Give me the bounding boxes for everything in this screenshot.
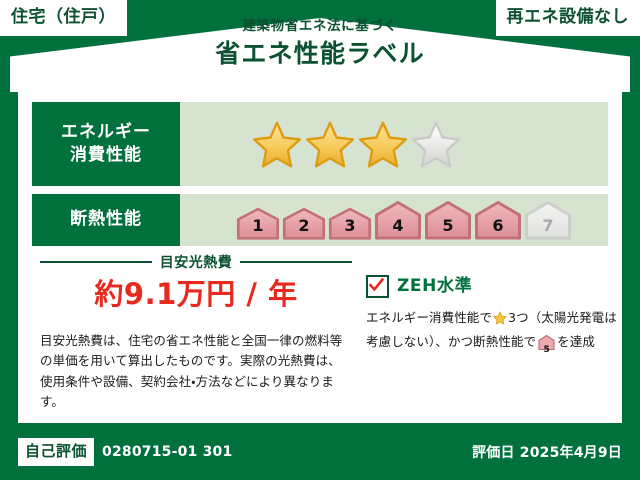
energy-performance-row: エネルギー 消費性能 [32,102,608,186]
star-icon [493,310,507,331]
insulation-performance-label: 断熱性能 [32,194,180,246]
house-icon-filled: 5 [424,200,472,240]
evaluation-type-badge: 自己評価 [18,438,94,466]
label-panel: エネルギー 消費性能 断熱性能 1234567 目安光熱費 [18,90,622,423]
utility-cost-heading: 目安光熱費 [40,252,352,272]
utility-cost-amount: 約9.1万円 / 年 [40,280,352,309]
energy-label-root: 住宅（住戸） 再エネ設備なし 建築物省エネ法に基づく 省エネ性能ラベル エネルギ… [0,0,640,480]
insulation-label-line1: 断熱性能 [70,208,142,231]
section-divider [356,258,357,294]
zeh-block: ZEH水準 エネルギー消費性能で 3つ（太陽光発電は考慮しない）、かつ断熱性能で… [366,275,624,356]
house-level-icon: 5 [538,335,555,356]
utility-cost-block: 目安光熱費 約9.1万円 / 年 目安光熱費は、住宅の省エネ性能と全国一律の燃料… [40,252,352,412]
energy-performance-value [180,102,608,186]
rule-left [40,261,152,263]
energy-performance-label: エネルギー 消費性能 [32,102,180,186]
house-number: 5 [424,218,472,234]
zeh-checkbox[interactable] [366,275,389,298]
utility-cost-note: 目安光熱費は、住宅の省エネ性能と全国一律の燃料等の単価を用いて算出したものです。… [40,331,352,412]
house-number: 7 [524,218,572,234]
zeh-title: ZEH水準 [397,278,472,295]
house-number: 3 [328,218,372,234]
star-icon-filled [252,119,302,169]
rule-right [240,261,352,263]
energy-label-line2: 消費性能 [70,144,142,167]
star-icon-filled [305,119,355,169]
house-icon-filled: 1 [236,207,280,240]
house-number: 4 [374,218,422,234]
zeh-description: エネルギー消費性能で 3つ（太陽光発電は考慮しない）、かつ断熱性能で 5を達成 [366,307,624,356]
header-subtitle: 建築物省エネ法に基づく [0,20,640,34]
utility-cost-heading-text: 目安光熱費 [160,252,233,272]
insulation-performance-row: 断熱性能 1234567 [32,194,608,246]
house-number: 6 [474,218,522,234]
house-rating: 1234567 [236,200,572,240]
house-icon-filled: 2 [282,207,326,240]
house-icon-empty: 7 [524,200,572,240]
zeh-desc-part1: エネルギー消費性能で [366,310,492,325]
house-icon-filled: 6 [474,200,522,240]
star-rating [252,119,461,169]
insulation-performance-value: 1234567 [180,194,608,246]
label-footer: 自己評価 0280715-01 301 評価日 2025年4月9日 [0,423,640,480]
energy-label-line1: エネルギー [61,121,151,144]
house-number: 2 [282,218,326,234]
header-titles: 建築物省エネ法に基づく 省エネ性能ラベル [0,20,640,66]
evaluation-date: 評価日 2025年4月9日 [472,442,622,462]
star-icon-empty [411,119,461,169]
evaluation-id: 0280715-01 301 [102,444,232,460]
zeh-desc-part3: を達成 [557,334,595,349]
house-icon-filled: 3 [328,207,372,240]
house-icon-filled: 4 [374,200,422,240]
zeh-heading: ZEH水準 [366,275,624,298]
house-level-number: 5 [538,346,555,355]
page-title: 省エネ性能ラベル [0,41,640,66]
star-icon-filled [358,119,408,169]
zeh-desc-star-count: 3つ（太陽光発電 [508,310,604,325]
house-number: 1 [236,218,280,234]
